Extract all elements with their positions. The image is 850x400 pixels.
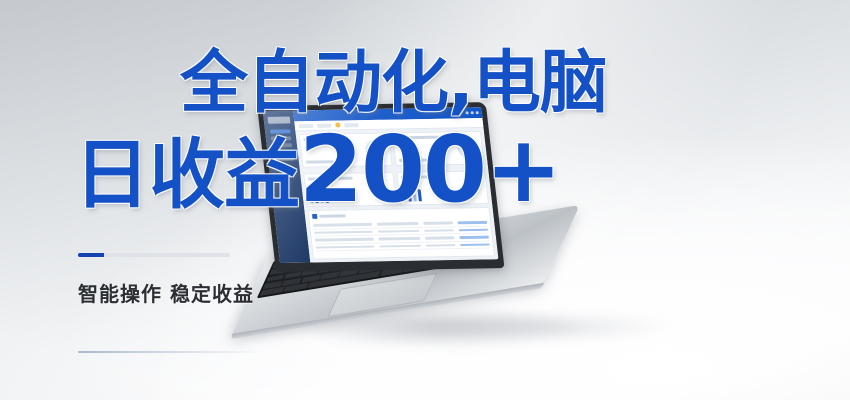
kpi-value <box>398 159 427 162</box>
header-icon <box>470 111 473 114</box>
toolbar-chip <box>299 123 314 127</box>
kpi-card <box>391 131 484 166</box>
table-title <box>319 214 346 217</box>
laptop-screen <box>263 107 499 263</box>
subtitle: 智能操作 稳定收益 <box>78 278 254 307</box>
toolbar-chip <box>344 123 359 127</box>
chart-title <box>400 175 445 179</box>
dashboard-table <box>307 207 495 260</box>
laptop-image <box>268 104 608 354</box>
chart-title <box>308 177 353 181</box>
chart-card <box>396 170 489 205</box>
laptop-lid <box>257 102 504 272</box>
dashboard-logo <box>268 116 291 123</box>
kpi-card <box>299 133 392 168</box>
kpi-value <box>306 160 335 163</box>
table-icon <box>312 214 318 219</box>
table-row <box>315 241 490 251</box>
header-icon <box>476 111 479 114</box>
dashboard-kpi-row <box>295 128 488 171</box>
kpi-title <box>303 137 348 141</box>
donut-chart <box>364 140 386 160</box>
laptop-contact-shadow <box>388 310 718 344</box>
header-icon <box>465 111 468 114</box>
sidebar-item <box>272 150 293 154</box>
toolbar-status-dot <box>335 123 341 128</box>
bar-chart <box>401 184 484 201</box>
sidebar-item <box>272 143 293 147</box>
donut-chart <box>456 138 478 158</box>
sidebar-item <box>273 157 294 161</box>
decorative-hairline <box>78 351 264 353</box>
dashboard-chart-row <box>300 167 493 210</box>
toolbar-chip <box>317 123 332 127</box>
promo-banner: 全自动化,电脑 日收益200+ 智能操作 稳定收益 <box>0 0 850 400</box>
chart-card <box>303 172 396 207</box>
kpi-title <box>396 136 441 140</box>
bar-chart <box>309 186 392 203</box>
accent-rule <box>78 253 230 257</box>
table-header <box>312 211 486 219</box>
dashboard-main <box>293 107 498 262</box>
sidebar-item <box>271 136 292 140</box>
sidebar-item <box>270 129 291 133</box>
